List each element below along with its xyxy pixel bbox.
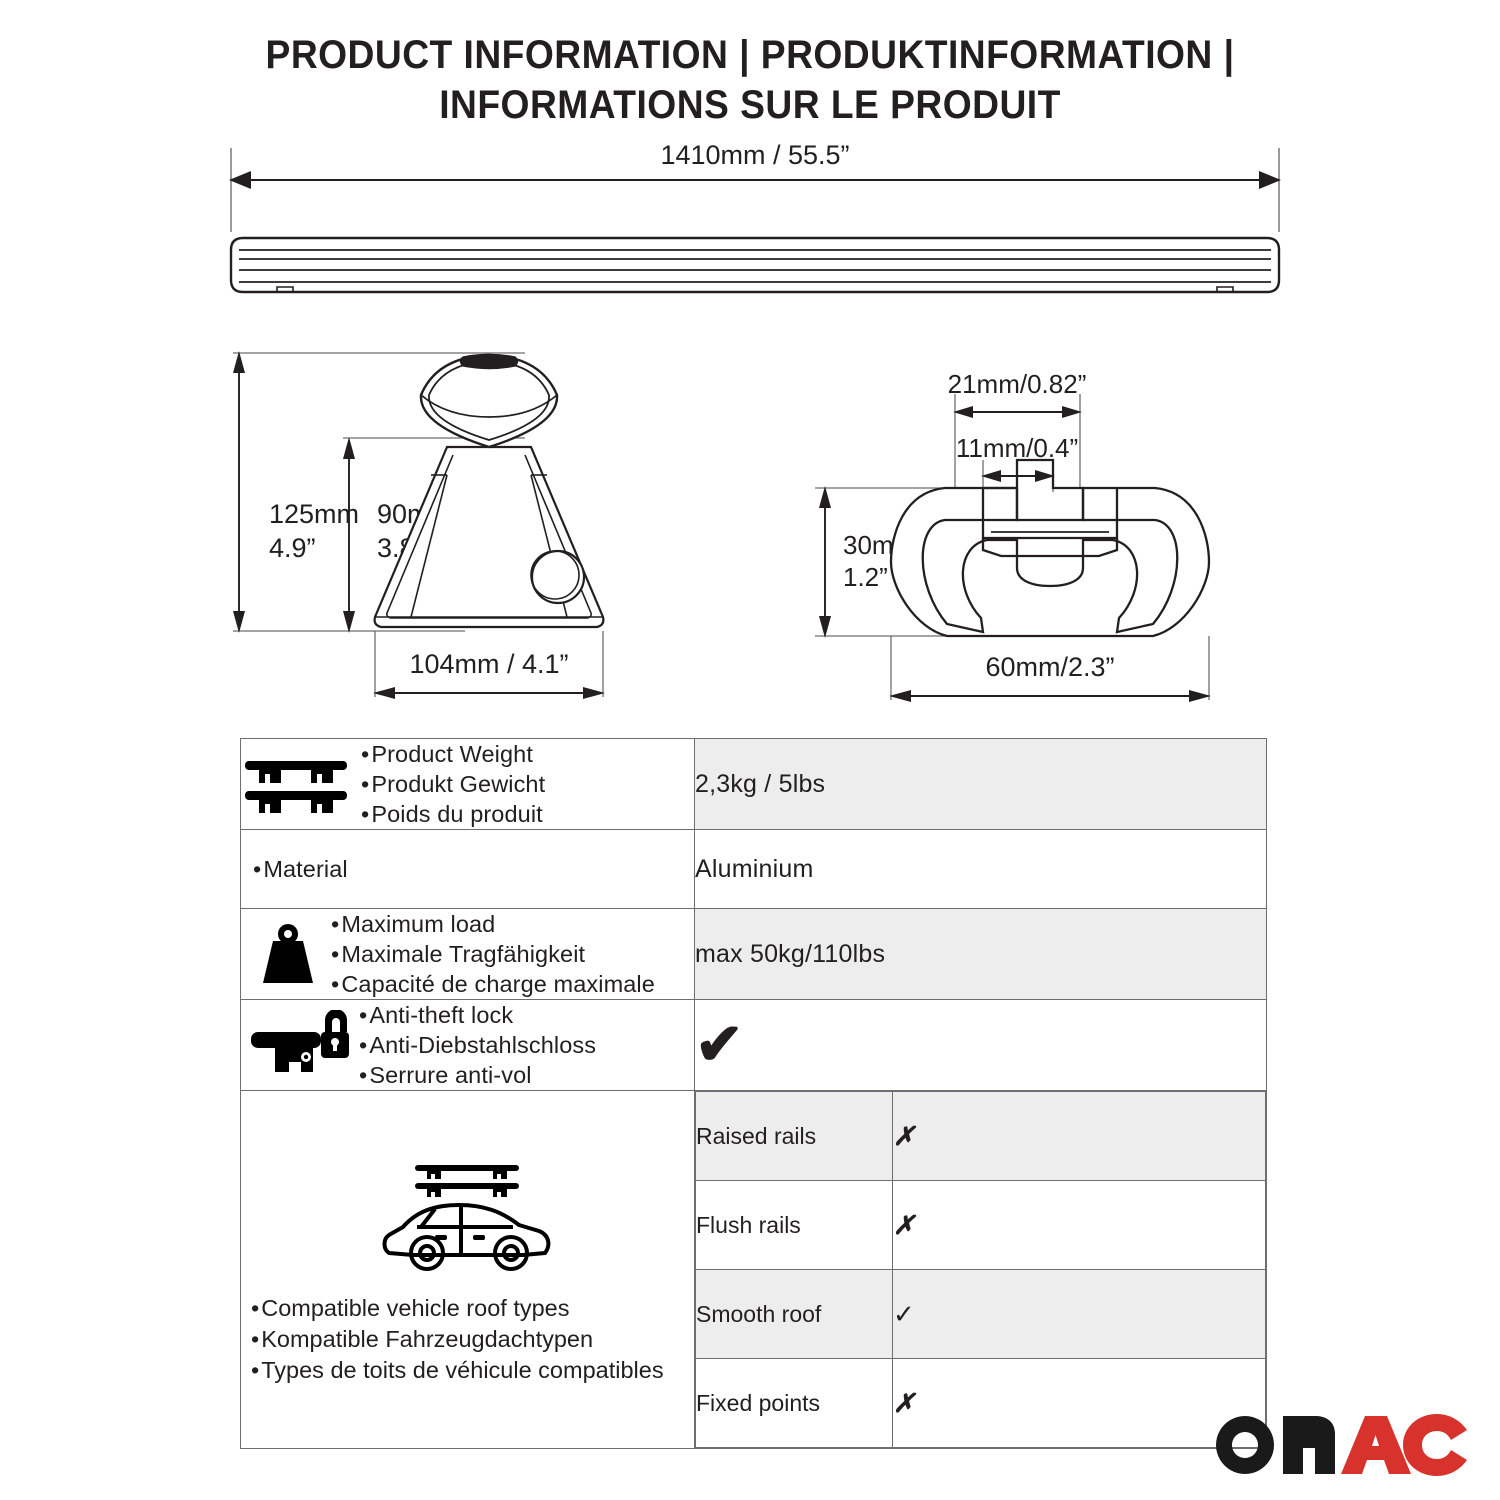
foot-height-total-label: 125mm	[269, 499, 359, 529]
cross-icon: ✗	[893, 1388, 915, 1418]
roof-type-subtable: Raised rails ✗ Flush rails ✗	[695, 1091, 1266, 1448]
roof-type-name: Fixed points	[696, 1359, 893, 1448]
bar-length-label: 1410mm / 55.5”	[660, 140, 849, 170]
logo-om-mark	[1216, 1416, 1335, 1474]
cell-value-product-weight: 2,3kg / 5lbs	[695, 739, 1267, 830]
label-line: Product Weight	[361, 739, 545, 769]
car-with-roofbars-icon	[373, 1153, 563, 1279]
check-icon: ✓	[893, 1299, 915, 1329]
label-line: Produkt Gewicht	[361, 769, 545, 799]
roof-type-mark: ✓	[893, 1270, 1266, 1359]
roof-type-row-flush-rails: Flush rails ✗	[696, 1181, 1266, 1270]
table-row-roof-types: Compatible vehicle roof types Kompatible…	[241, 1091, 1267, 1449]
profile-height-inch-label: 1.2”	[843, 562, 888, 592]
table-row-anti-theft-lock: Anti-theft lock Anti-Diebstahlschloss Se…	[241, 1000, 1267, 1091]
cell-roof-types-subtable: Raised rails ✗ Flush rails ✗	[695, 1091, 1267, 1449]
label-line: Kompatible Fahrzeugdachtypen	[251, 1324, 664, 1355]
cross-icon: ✗	[893, 1121, 915, 1151]
table-row-material: Material Aluminium	[241, 830, 1267, 909]
label-line: Capacité de charge maximale	[331, 969, 655, 999]
label-line: Compatible vehicle roof types	[251, 1293, 664, 1324]
label-line: Anti-Diebstahlschloss	[359, 1030, 596, 1060]
roof-type-name: Raised rails	[696, 1092, 893, 1181]
table-row-product-weight: Product Weight Produkt Gewicht Poids du …	[241, 739, 1267, 830]
lock-icon	[247, 1010, 349, 1080]
crossbar-length-drawing: 1410mm / 55.5”	[225, 140, 1285, 320]
cell-label-roof-types: Compatible vehicle roof types Kompatible…	[241, 1091, 695, 1449]
label-line: Types de toits de véhicule compatibles	[251, 1355, 664, 1386]
roof-type-mark: ✗	[893, 1092, 1266, 1181]
foot-elevation-drawing: 125mm 4.9” 90mm 3.8” 104mm / 4.1”	[225, 345, 725, 705]
label-line: Anti-theft lock	[359, 1000, 596, 1030]
label-texts-product-weight: Product Weight Produkt Gewicht Poids du …	[361, 739, 545, 829]
label-texts-material: Material	[253, 854, 348, 884]
foot-height-total-inch-label: 4.9”	[269, 533, 316, 563]
title-line-2: INFORMATIONS SUR LE PRODUIT	[53, 80, 1448, 130]
label-line: Poids du produit	[361, 799, 545, 829]
table-row-maximum-load: Maximum load Maximale Tragfähigkeit Capa…	[241, 909, 1267, 1000]
label-texts-roof-types: Compatible vehicle roof types Kompatible…	[251, 1293, 664, 1386]
roof-type-name: Flush rails	[696, 1181, 893, 1270]
roof-type-name: Smooth roof	[696, 1270, 893, 1359]
profile-cross-section-drawing: 21mm/0.82” 11mm/0.4” 30mm 1.2” 60mm/2.3”	[805, 360, 1295, 710]
label-line: Maximale Tragfähigkeit	[331, 939, 655, 969]
cell-label-maximum-load: Maximum load Maximale Tragfähigkeit Capa…	[241, 909, 695, 1000]
label-line: Serrure anti-vol	[359, 1060, 596, 1090]
weight-icon	[255, 921, 321, 987]
product-spec-table: Product Weight Produkt Gewicht Poids du …	[240, 738, 1267, 1449]
label-texts-maximum-load: Maximum load Maximale Tragfähigkeit Capa…	[331, 909, 655, 999]
cell-label-material: Material	[241, 830, 695, 909]
roof-type-row-fixed-points: Fixed points ✗	[696, 1359, 1266, 1448]
roof-type-mark: ✗	[893, 1359, 1266, 1448]
cross-icon: ✗	[893, 1210, 915, 1240]
check-mark: ✔	[695, 1012, 744, 1077]
profile-width-label: 60mm/2.3”	[985, 652, 1114, 682]
cell-label-anti-theft-lock: Anti-theft lock Anti-Diebstahlschloss Se…	[241, 1000, 695, 1091]
logo-ac-mark	[1341, 1414, 1467, 1476]
cell-value-material: Aluminium	[695, 830, 1267, 909]
cell-value-maximum-load: max 50kg/110lbs	[695, 909, 1267, 1000]
slot-outer-label: 21mm/0.82”	[948, 369, 1087, 399]
label-texts-anti-theft-lock: Anti-theft lock Anti-Diebstahlschloss Se…	[359, 1000, 596, 1090]
omac-logo	[1215, 1412, 1475, 1482]
page-title: PRODUCT INFORMATION | PRODUKTINFORMATION…	[0, 30, 1500, 130]
roof-type-row-raised-rails: Raised rails ✗	[696, 1092, 1266, 1181]
foot-width-label: 104mm / 4.1”	[409, 649, 568, 679]
crossbars-icon	[241, 753, 351, 815]
label-line: Material	[253, 854, 348, 884]
cell-value-anti-theft-lock: ✔	[695, 1000, 1267, 1091]
cell-label-product-weight: Product Weight Produkt Gewicht Poids du …	[241, 739, 695, 830]
slot-inner-label: 11mm/0.4”	[956, 433, 1078, 463]
roof-type-mark: ✗	[893, 1181, 1266, 1270]
roof-type-row-smooth-roof: Smooth roof ✓	[696, 1270, 1266, 1359]
title-line-1: PRODUCT INFORMATION | PRODUKTINFORMATION…	[53, 30, 1448, 80]
label-line: Maximum load	[331, 909, 655, 939]
